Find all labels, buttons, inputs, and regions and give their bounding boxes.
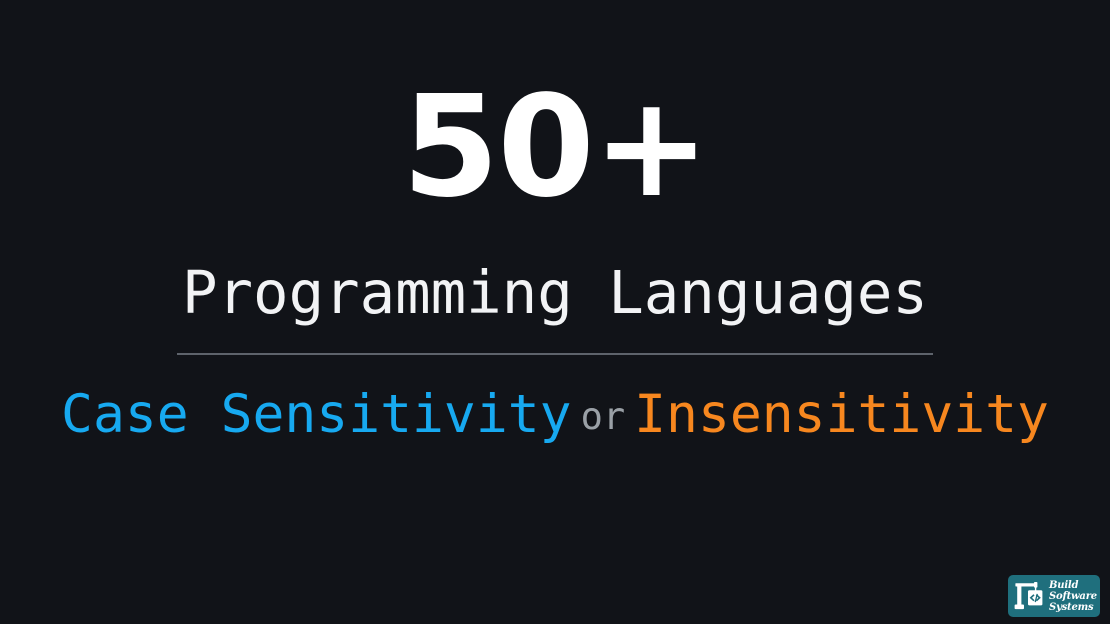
tagline-insensitivity: Insensitivity [634, 384, 1049, 445]
page-title: 50+ [0, 78, 1110, 218]
slide-tagline: Case SensitivityorInsensitivity [0, 388, 1110, 441]
tagline-case-sensitivity: Case Sensitivity [61, 384, 572, 445]
brand-line-3: Systems [1049, 602, 1097, 613]
brand-line-1: Build [1049, 580, 1097, 591]
crane-code-icon [1012, 579, 1046, 613]
divider [177, 353, 933, 355]
brand-logo: Build Software Systems [1008, 575, 1100, 617]
presentation-slide: 50+ Programming Languages Case Sensitivi… [0, 0, 1110, 624]
tagline-conjunction: or [572, 395, 635, 438]
brand-line-2: Software [1049, 591, 1097, 602]
brand-wordmark: Build Software Systems [1046, 580, 1097, 613]
slide-subtitle: Programming Languages [0, 263, 1110, 322]
